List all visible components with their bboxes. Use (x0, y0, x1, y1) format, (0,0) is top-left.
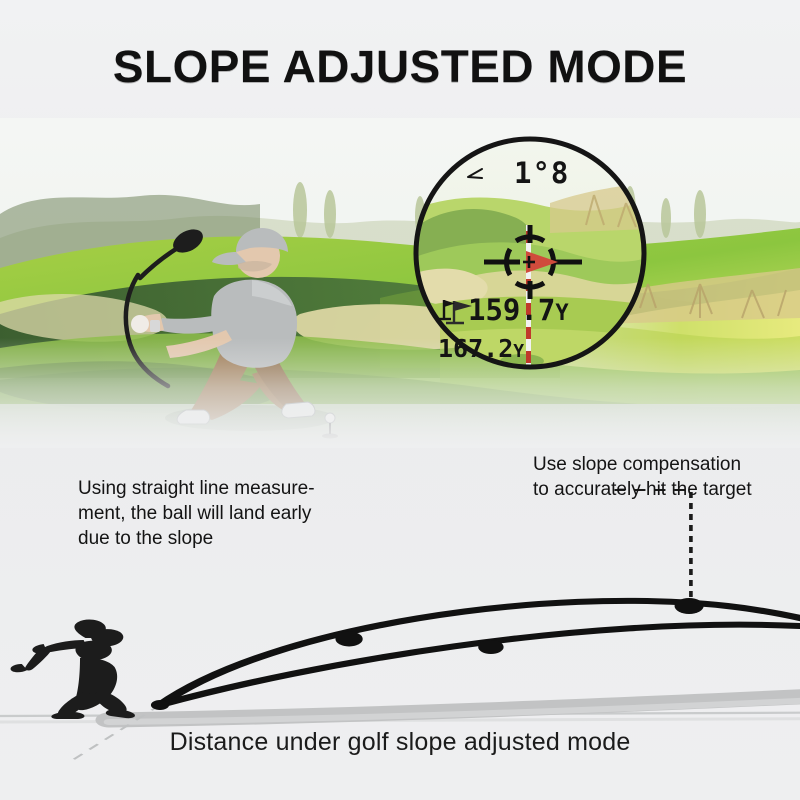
annotation-left-line1: Using straight line measure- (78, 476, 353, 501)
angle-value: 1°8 (514, 159, 569, 188)
trajectory-straight-line (160, 601, 800, 705)
scope-readout: 1°8 159.7Y 167.2Y (410, 133, 650, 373)
leader-line-left (615, 490, 691, 601)
trajectory-dot (675, 598, 704, 614)
distance-secondary-value: 167.2 (438, 334, 513, 363)
trajectory-dot (478, 640, 503, 654)
distance-primary: 159.7Y (468, 296, 569, 325)
course-photo (0, 118, 800, 448)
trajectory-slope-compensated (160, 625, 800, 705)
annotation-left-line2: ment, the ball will land early (78, 501, 353, 526)
trajectory-dot (335, 632, 362, 647)
annotation-right-line2: to accurately hit the target (533, 477, 783, 502)
annotation-right-line1: Use slope compensation (533, 452, 783, 477)
flag-icon (438, 298, 458, 322)
annotation-right: Use slope compensation to accurately hit… (533, 452, 783, 502)
page-root: SLOPE ADJUSTED MODE (0, 0, 800, 800)
footer-caption: Distance under golf slope adjusted mode (0, 728, 800, 757)
angle-icon (466, 167, 484, 181)
rangefinder-scope: 1°8 159.7Y 167.2Y (410, 133, 650, 373)
trajectory-origin-dot (151, 700, 169, 710)
page-title: SLOPE ADJUSTED MODE (0, 44, 800, 89)
distance-primary-value: 159.7 (468, 293, 555, 327)
distance-secondary-unit: Y (513, 341, 524, 362)
annotation-left: Using straight line measure- ment, the b… (78, 476, 353, 551)
golfer-silhouette-icon (11, 620, 135, 719)
annotation-left-line3: due to the slope (78, 526, 353, 551)
distance-secondary: 167.2Y (438, 336, 524, 361)
course-photo-illustration (0, 118, 800, 448)
distance-primary-unit: Y (555, 301, 568, 326)
angle-readout: 1°8 (466, 159, 616, 188)
